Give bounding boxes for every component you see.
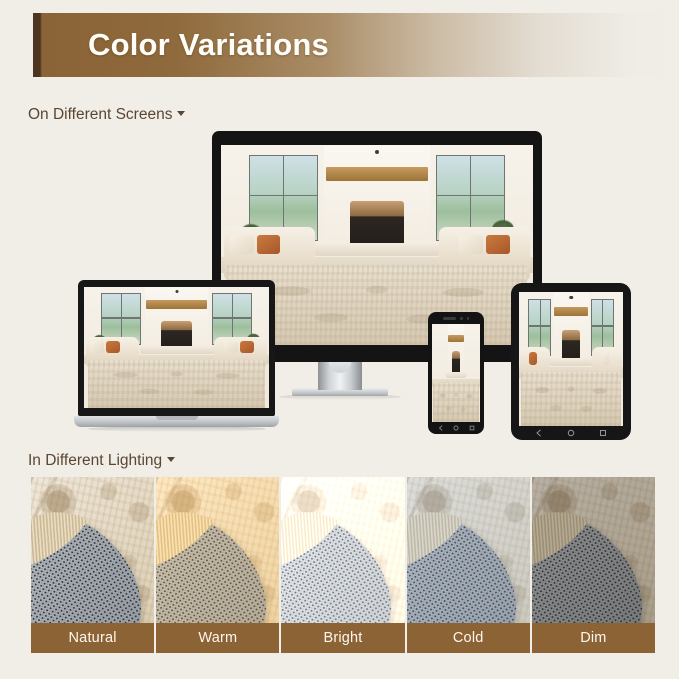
lighting-swatch-label: Warm	[156, 623, 279, 653]
scene-area-rug	[88, 360, 266, 408]
scene-pillow-cream	[459, 235, 483, 254]
scene-pillow-rust	[529, 352, 537, 365]
phone-navigation-bar[interactable]	[428, 423, 484, 432]
rug-corner-photo	[281, 477, 404, 623]
phone-screen	[432, 324, 480, 422]
laptop-hinge-notch	[156, 416, 198, 420]
device-smartphone[interactable]	[428, 312, 484, 434]
living-room-scene-phone	[432, 324, 480, 422]
scene-pillow-cream	[230, 235, 254, 254]
laptop-shadow	[88, 426, 266, 432]
webcam-icon	[375, 150, 379, 154]
device-laptop[interactable]	[74, 280, 279, 435]
scene-fireplace	[452, 351, 460, 372]
scene-hearth	[446, 372, 465, 378]
home-icon[interactable]	[453, 425, 459, 431]
lighting-swatch[interactable]: Dim	[532, 477, 655, 653]
sensor-icon	[467, 317, 470, 320]
scene-hearth	[140, 346, 214, 354]
scene-hearth	[550, 358, 592, 367]
scene-fireplace	[562, 330, 580, 358]
lighting-swatch[interactable]: Bright	[281, 477, 404, 653]
scene-area-rug	[433, 383, 479, 422]
scene-fireplace	[161, 321, 192, 346]
scene-area-rug	[521, 372, 621, 426]
scene-mantel-shelf	[326, 167, 429, 181]
scene-pillow-rust	[257, 235, 281, 254]
monitor-stand-neck	[318, 360, 362, 390]
laptop-lid	[78, 280, 275, 416]
section-heading-lighting[interactable]: In Different Lighting	[28, 452, 175, 470]
lighting-swatch-label: Dim	[532, 623, 655, 653]
lighting-swatch-label: Bright	[281, 623, 404, 653]
scene-pillow-cream	[224, 341, 238, 353]
home-icon[interactable]	[567, 429, 575, 437]
scene-hearth	[315, 243, 440, 256]
phone-body	[428, 312, 484, 434]
lighting-swatch[interactable]: Natural	[31, 477, 154, 653]
lighting-swatch-label: Natural	[31, 623, 154, 653]
scene-pillow-rust	[106, 341, 120, 353]
scene-pillow-rust	[240, 341, 254, 353]
tablet-screen	[519, 292, 623, 426]
scene-pillow-cream	[601, 352, 609, 365]
page-title: Color Variations	[88, 27, 329, 63]
back-icon[interactable]	[535, 429, 543, 437]
recents-icon[interactable]	[469, 425, 475, 431]
lighting-swatch[interactable]: Warm	[156, 477, 279, 653]
living-room-scene-laptop	[84, 287, 269, 408]
rug-corner-photo	[31, 477, 154, 623]
laptop-screen	[84, 287, 269, 408]
scene-mantel-shelf	[146, 300, 207, 308]
device-tablet[interactable]	[511, 283, 631, 440]
section-heading-screens[interactable]: On Different Screens	[28, 106, 185, 124]
section-heading-screens-label: On Different Screens	[28, 106, 172, 123]
webcam-icon	[175, 290, 178, 293]
scene-mantel-shelf	[448, 335, 464, 342]
living-room-scene-tablet	[519, 292, 623, 426]
back-icon[interactable]	[438, 425, 444, 431]
scene-pillow-rust	[486, 235, 510, 254]
lighting-swatch-row: Natural Warm Bright	[31, 477, 655, 653]
tablet-body	[511, 283, 631, 440]
scene-pillow-cream	[90, 341, 104, 353]
section-heading-lighting-label: In Different Lighting	[28, 452, 162, 469]
chevron-down-icon	[167, 457, 175, 462]
rug-corner-photo	[407, 477, 530, 623]
rug-corner-photo	[532, 477, 655, 623]
product-color-variations-page: Color Variations On Different Screens	[0, 0, 679, 679]
recents-icon[interactable]	[599, 429, 607, 437]
front-camera-icon	[460, 317, 463, 320]
phone-earpiece-area	[443, 317, 469, 320]
chevron-down-icon	[177, 111, 185, 116]
lighting-swatch-label: Cold	[407, 623, 530, 653]
header-banner: Color Variations	[33, 13, 679, 77]
front-camera-icon	[569, 296, 573, 300]
tablet-navigation-bar[interactable]	[511, 427, 631, 438]
scene-mantel-shelf	[554, 307, 588, 316]
rug-corner-photo	[156, 477, 279, 623]
lighting-swatch[interactable]: Cold	[407, 477, 530, 653]
scene-fireplace	[350, 201, 403, 243]
earpiece-speaker-icon	[443, 317, 456, 320]
